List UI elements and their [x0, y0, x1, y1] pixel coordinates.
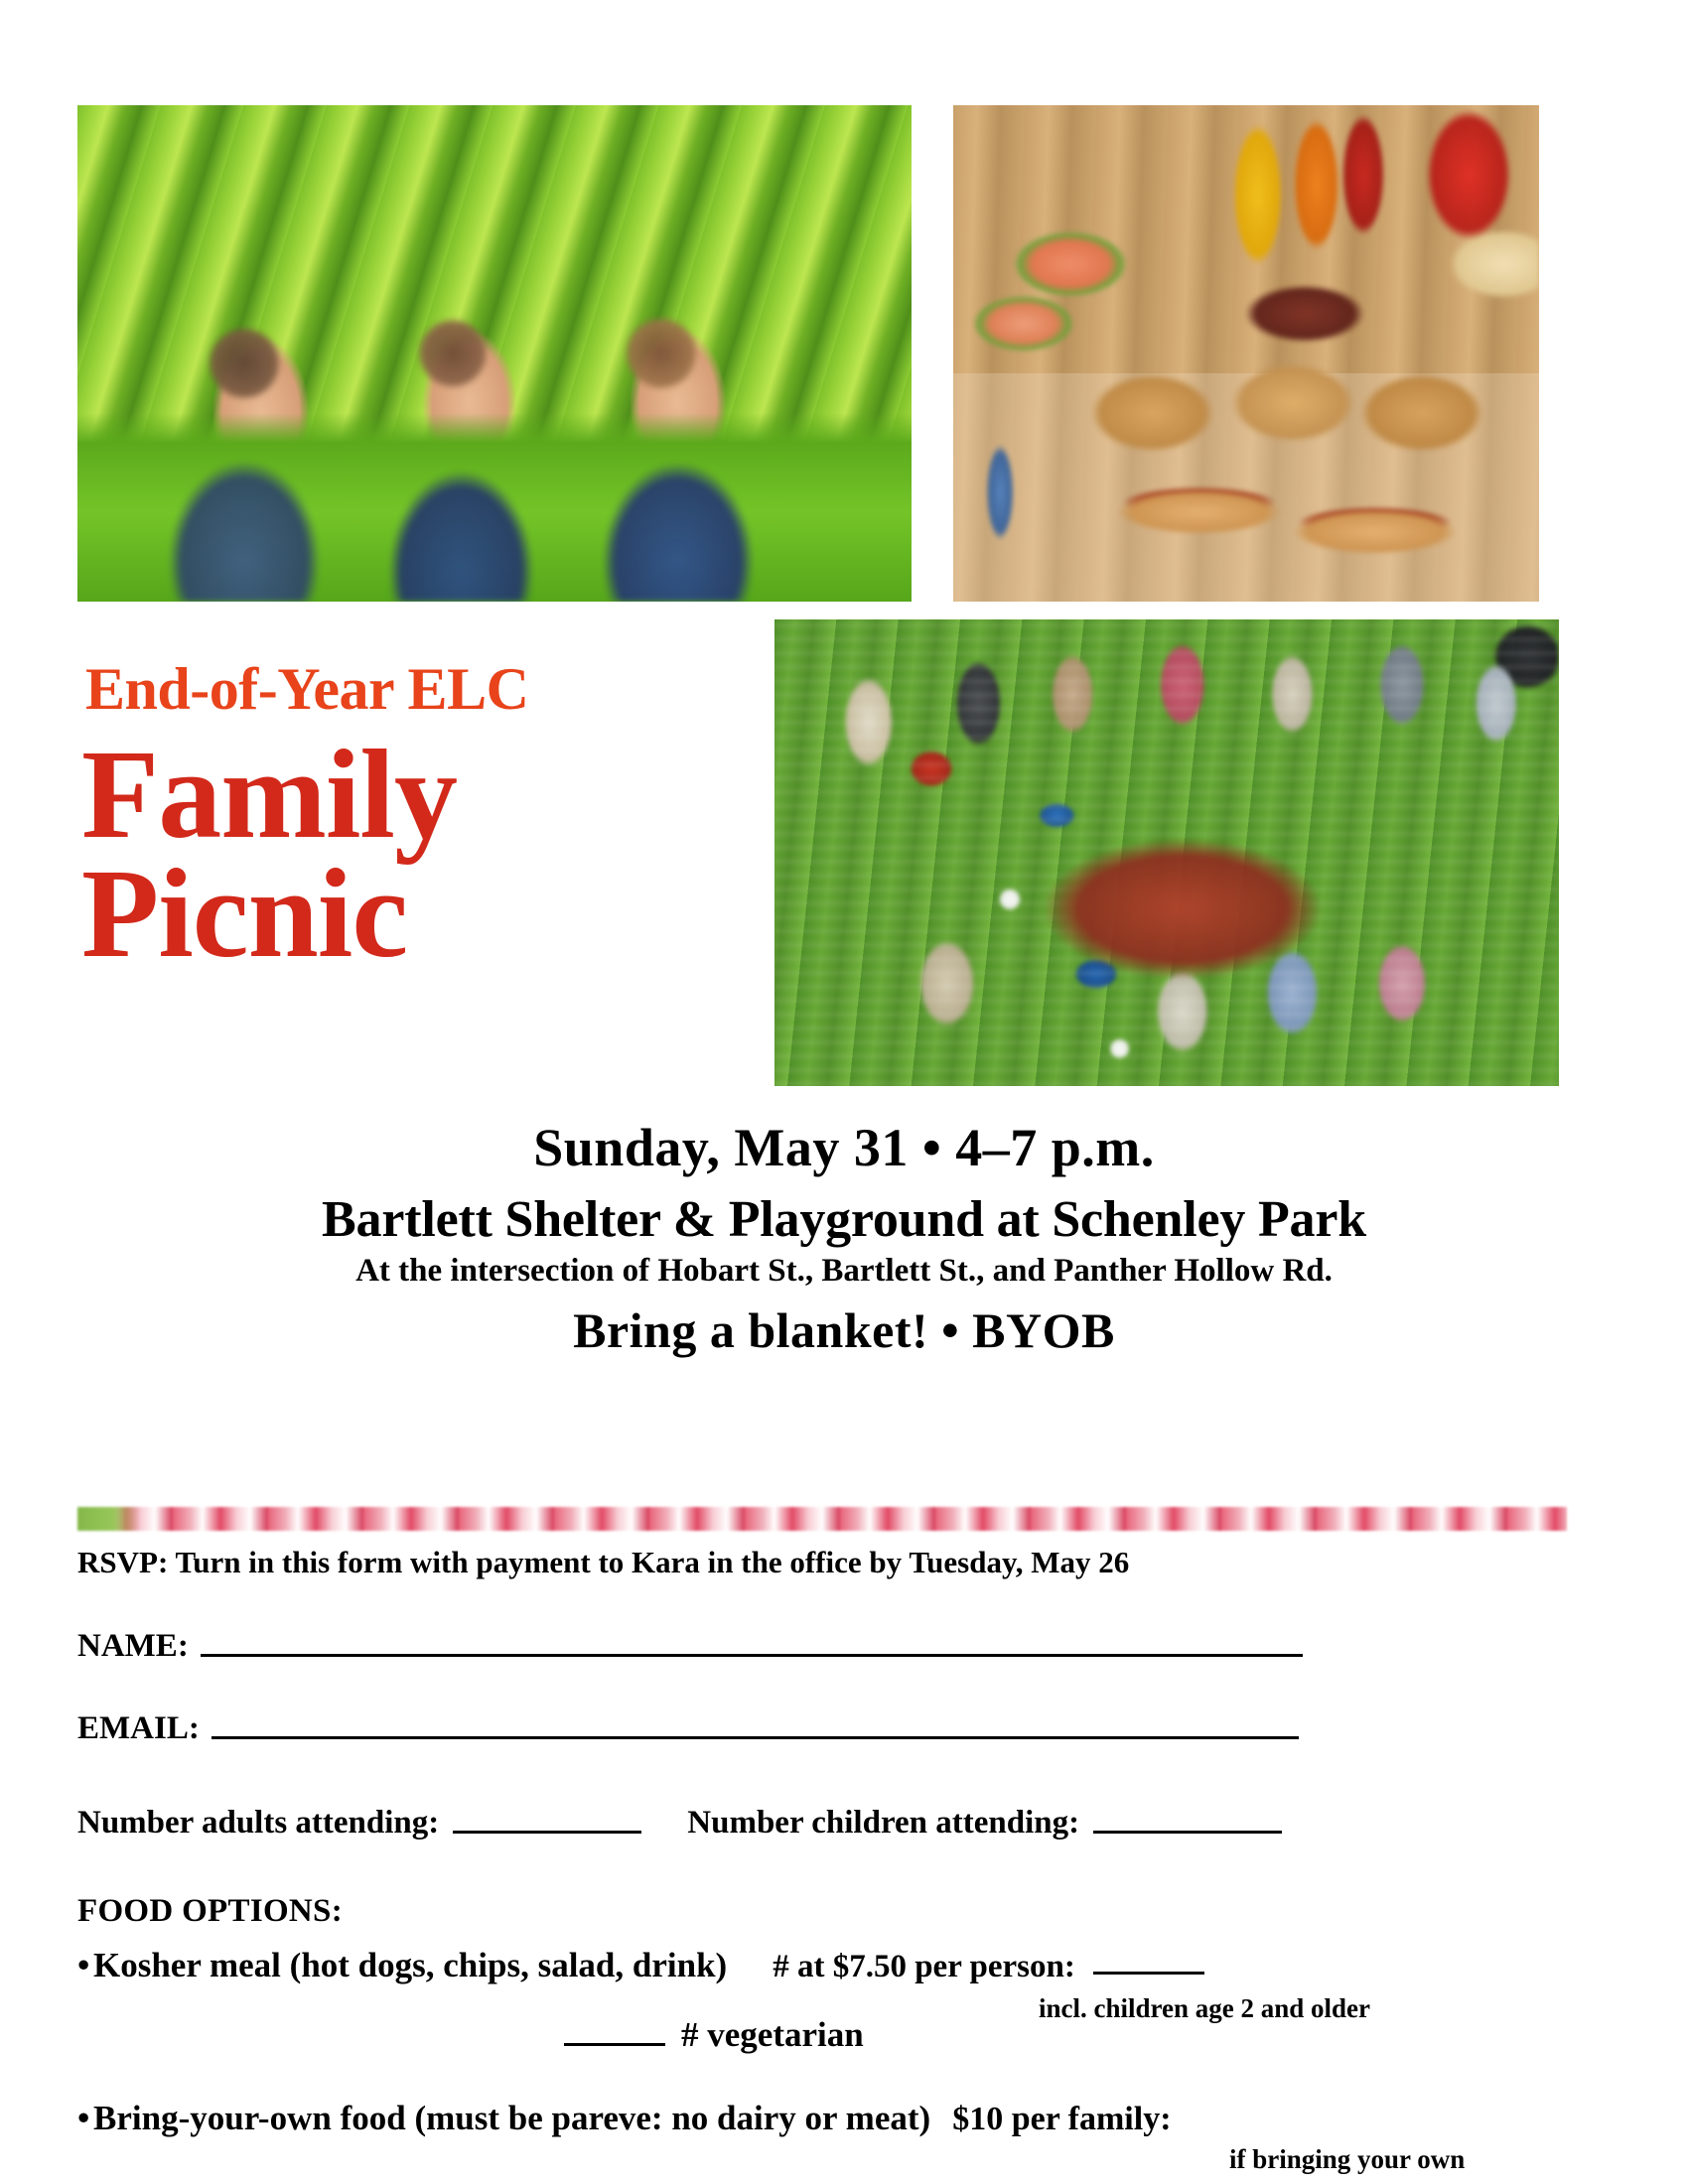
flyer-page: End-of-Year ELC Family Picnic Sunday, Ma… [0, 0, 1688, 2184]
rsvp-instruction: RSVP: Turn in this form with payment to … [77, 1545, 1587, 1580]
byof-price-label: $10 per family: [952, 2101, 1171, 2138]
bullet-icon: • [77, 2099, 93, 2138]
email-input[interactable] [211, 1736, 1299, 1739]
photo-kids-watermelon [77, 105, 912, 602]
kicker-heading: End-of-Year ELC [85, 655, 528, 724]
event-address: At the intersection of Hobart St., Bartl… [0, 1253, 1688, 1290]
name-field-row: NAME: [77, 1628, 1587, 1665]
event-details: Sunday, May 31 • 4–7 p.m. Bartlett Shelt… [0, 1117, 1688, 1359]
attendee-counts-row: Number adults attending: Number children… [77, 1805, 1587, 1842]
email-field-row: EMAIL: [77, 1710, 1587, 1747]
photo-family-gathering [774, 619, 1559, 1086]
vegetarian-quantity-input[interactable] [564, 2043, 665, 2046]
photo-kids-watermelon-detail [77, 105, 912, 602]
event-datetime: Sunday, May 31 • 4–7 p.m. [0, 1117, 1688, 1178]
vegetarian-label: # vegetarian [681, 2015, 864, 2055]
byof-price-note: if bringing your own [1229, 2144, 1465, 2175]
kosher-quantity-input[interactable] [1093, 1972, 1204, 1975]
photo-family-gathering-detail [774, 619, 1559, 1086]
adults-count-label: Number adults attending: [77, 1805, 439, 1842]
event-byob-note: Bring a blanket! • BYOB [0, 1301, 1688, 1359]
photo-picnic-food [953, 105, 1539, 602]
children-count-input[interactable] [1093, 1831, 1282, 1834]
rsvp-form: RSVP: Turn in this form with payment to … [77, 1545, 1587, 2138]
page-title-line-1: Family [81, 735, 457, 854]
children-count-label: Number children attending: [687, 1805, 1079, 1842]
name-label: NAME: [77, 1628, 189, 1665]
event-venue: Bartlett Shelter & Playground at Schenle… [0, 1190, 1688, 1249]
food-options-heading: FOOD OPTIONS: [77, 1893, 1587, 1930]
kosher-price-label: # at $7.50 per person: [773, 1949, 1075, 1984]
bring-your-own-food-option-row[interactable]: • Bring-your-own food (must be pareve: n… [77, 2099, 1587, 2138]
name-input[interactable] [201, 1654, 1303, 1657]
picnic-blanket-stripe-divider [77, 1507, 1567, 1531]
bullet-icon: • [77, 1946, 93, 1985]
email-label: EMAIL: [77, 1710, 200, 1747]
page-title-line-2: Picnic [81, 854, 457, 973]
kosher-price-group: # at $7.50 per person: [773, 1949, 1204, 1985]
kosher-meal-label: Kosher meal (hot dogs, chips, salad, dri… [93, 1946, 727, 1985]
page-title: Family Picnic [81, 735, 457, 974]
photo-picnic-food-detail [953, 105, 1539, 602]
kosher-price-note: incl. children age 2 and older [1039, 1993, 1370, 2024]
adults-count-input[interactable] [453, 1831, 641, 1834]
byof-label: Bring-your-own food (must be pareve: no … [93, 2099, 930, 2138]
kosher-meal-option-row[interactable]: • Kosher meal (hot dogs, chips, salad, d… [77, 1946, 1587, 1985]
